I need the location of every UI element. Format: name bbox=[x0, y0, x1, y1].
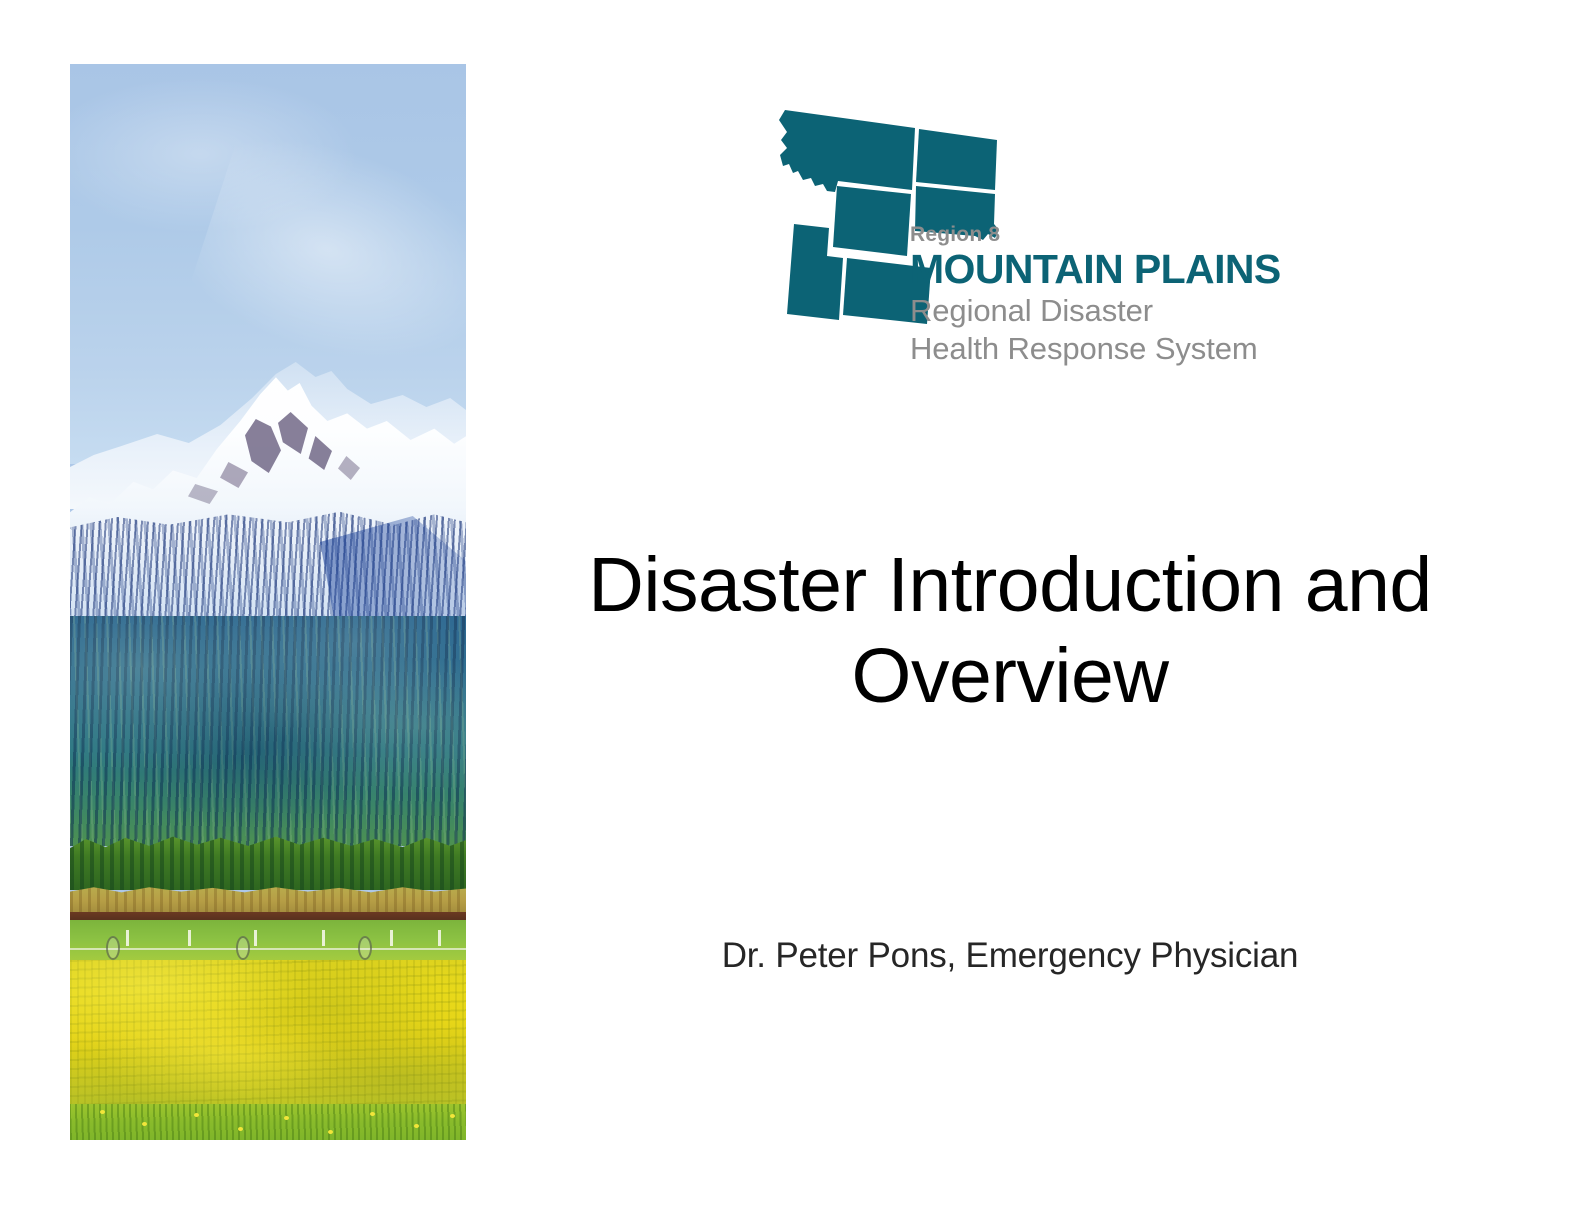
logo-region-label: Region 8 bbox=[910, 224, 1290, 245]
dandelion-flower bbox=[414, 1124, 419, 1128]
dandelion-flower bbox=[100, 1110, 105, 1114]
dandelion-flower bbox=[370, 1112, 375, 1116]
dandelion-flower bbox=[284, 1116, 289, 1120]
state-wyoming bbox=[833, 186, 911, 256]
logo-tagline-line1: Regional Disaster bbox=[910, 293, 1290, 329]
slide-title: Disaster Introduction and Overview bbox=[520, 540, 1500, 722]
subtitle-block: Dr. Peter Pons, Emergency Physician bbox=[520, 936, 1500, 976]
cloud-wisp-secondary-icon bbox=[70, 74, 360, 234]
mountain-meadow-photo bbox=[70, 64, 466, 1140]
state-north-dakota bbox=[916, 129, 997, 190]
irrigation-sprinkler bbox=[358, 936, 372, 960]
logo-tagline-line2: Health Response System bbox=[910, 331, 1290, 367]
irrigation-sprinkler bbox=[236, 936, 250, 960]
dandelion-flower bbox=[142, 1122, 147, 1126]
fence-post bbox=[188, 930, 191, 946]
dandelion-flower bbox=[238, 1127, 243, 1131]
logo-text-block: Region 8 MOUNTAIN PLAINS Regional Disast… bbox=[910, 224, 1290, 367]
presentation-slide: Region 8 MOUNTAIN PLAINS Regional Disast… bbox=[0, 0, 1580, 1209]
irrigation-sprinkler bbox=[106, 936, 120, 960]
dark-conifer-forest-zone bbox=[70, 616, 466, 846]
fence-post bbox=[126, 930, 129, 946]
mountain-plains-rdhrs-logo: Region 8 MOUNTAIN PLAINS Regional Disast… bbox=[765, 98, 1285, 366]
title-block: Disaster Introduction and Overview bbox=[520, 540, 1500, 722]
dandelion-flower bbox=[328, 1130, 333, 1134]
fence-wire bbox=[70, 948, 466, 950]
green-meadow-zone bbox=[70, 920, 466, 964]
dandelion-flower bbox=[194, 1113, 199, 1117]
foreground-grass-zone bbox=[70, 1104, 466, 1140]
fence-post bbox=[438, 930, 441, 946]
fence-post bbox=[322, 930, 325, 946]
slide-subtitle: Dr. Peter Pons, Emergency Physician bbox=[520, 936, 1500, 976]
fence-post bbox=[254, 930, 257, 946]
dandelion-flower bbox=[450, 1114, 455, 1118]
state-montana bbox=[779, 110, 915, 192]
logo-organization-name: MOUNTAIN PLAINS bbox=[910, 248, 1290, 291]
fence-post bbox=[390, 930, 393, 946]
